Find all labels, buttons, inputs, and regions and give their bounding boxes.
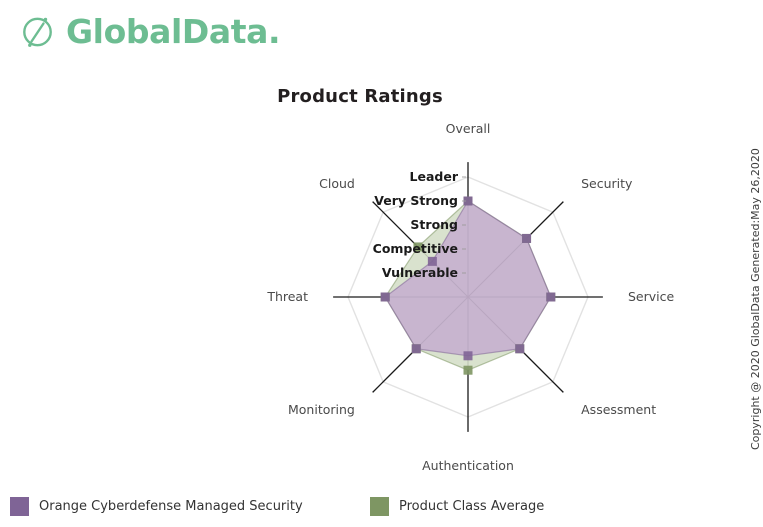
chart-legend: Orange Cyberdefense Managed Security Pro… [10, 494, 750, 524]
axis-label-monitoring: Monitoring [288, 402, 355, 417]
copyright-text: Copyright @ 2020 GlobalData Generated:Ma… [749, 148, 762, 450]
globaldata-logo: GlobalData. [16, 10, 280, 52]
globaldata-wordmark: GlobalData. [66, 15, 280, 48]
legend-swatch-orange-cyberdefense [10, 497, 29, 516]
legend-swatch-product-class-average [370, 497, 389, 516]
axis-label-service: Service [628, 289, 675, 304]
radar-chart-svg: OverallSecurityServiceAssessmentAuthenti… [0, 62, 720, 472]
legend-label-product-class-average: Product Class Average [399, 499, 544, 514]
axis-label-assessment: Assessment [581, 402, 656, 417]
globaldata-circle-slash-icon [16, 10, 58, 52]
legend-label-orange-cyberdefense: Orange Cyberdefense Managed Security [39, 499, 303, 514]
scale-label-vulnerable: Vulnerable [382, 265, 458, 280]
copyright-notice: Copyright @ 2020 GlobalData Generated:Ma… [727, 0, 761, 527]
scale-label-very-strong: Very Strong [374, 193, 458, 208]
axis-label-threat: Threat [266, 289, 308, 304]
legend-item-orange-cyberdefense[interactable]: Orange Cyberdefense Managed Security [10, 497, 303, 516]
scale-label-strong: Strong [410, 217, 458, 232]
axis-label-cloud: Cloud [319, 176, 355, 191]
scale-label-leader: Leader [410, 169, 459, 184]
axis-label-overall: Overall [446, 121, 491, 136]
legend-item-product-class-average[interactable]: Product Class Average [370, 497, 544, 516]
radar-chart-panel: Product Ratings OverallSecurityServiceAs… [0, 62, 720, 472]
axis-label-security: Security [581, 176, 633, 191]
scale-label-competitive: Competitive [373, 241, 458, 256]
axis-label-authentication: Authentication [422, 458, 514, 472]
